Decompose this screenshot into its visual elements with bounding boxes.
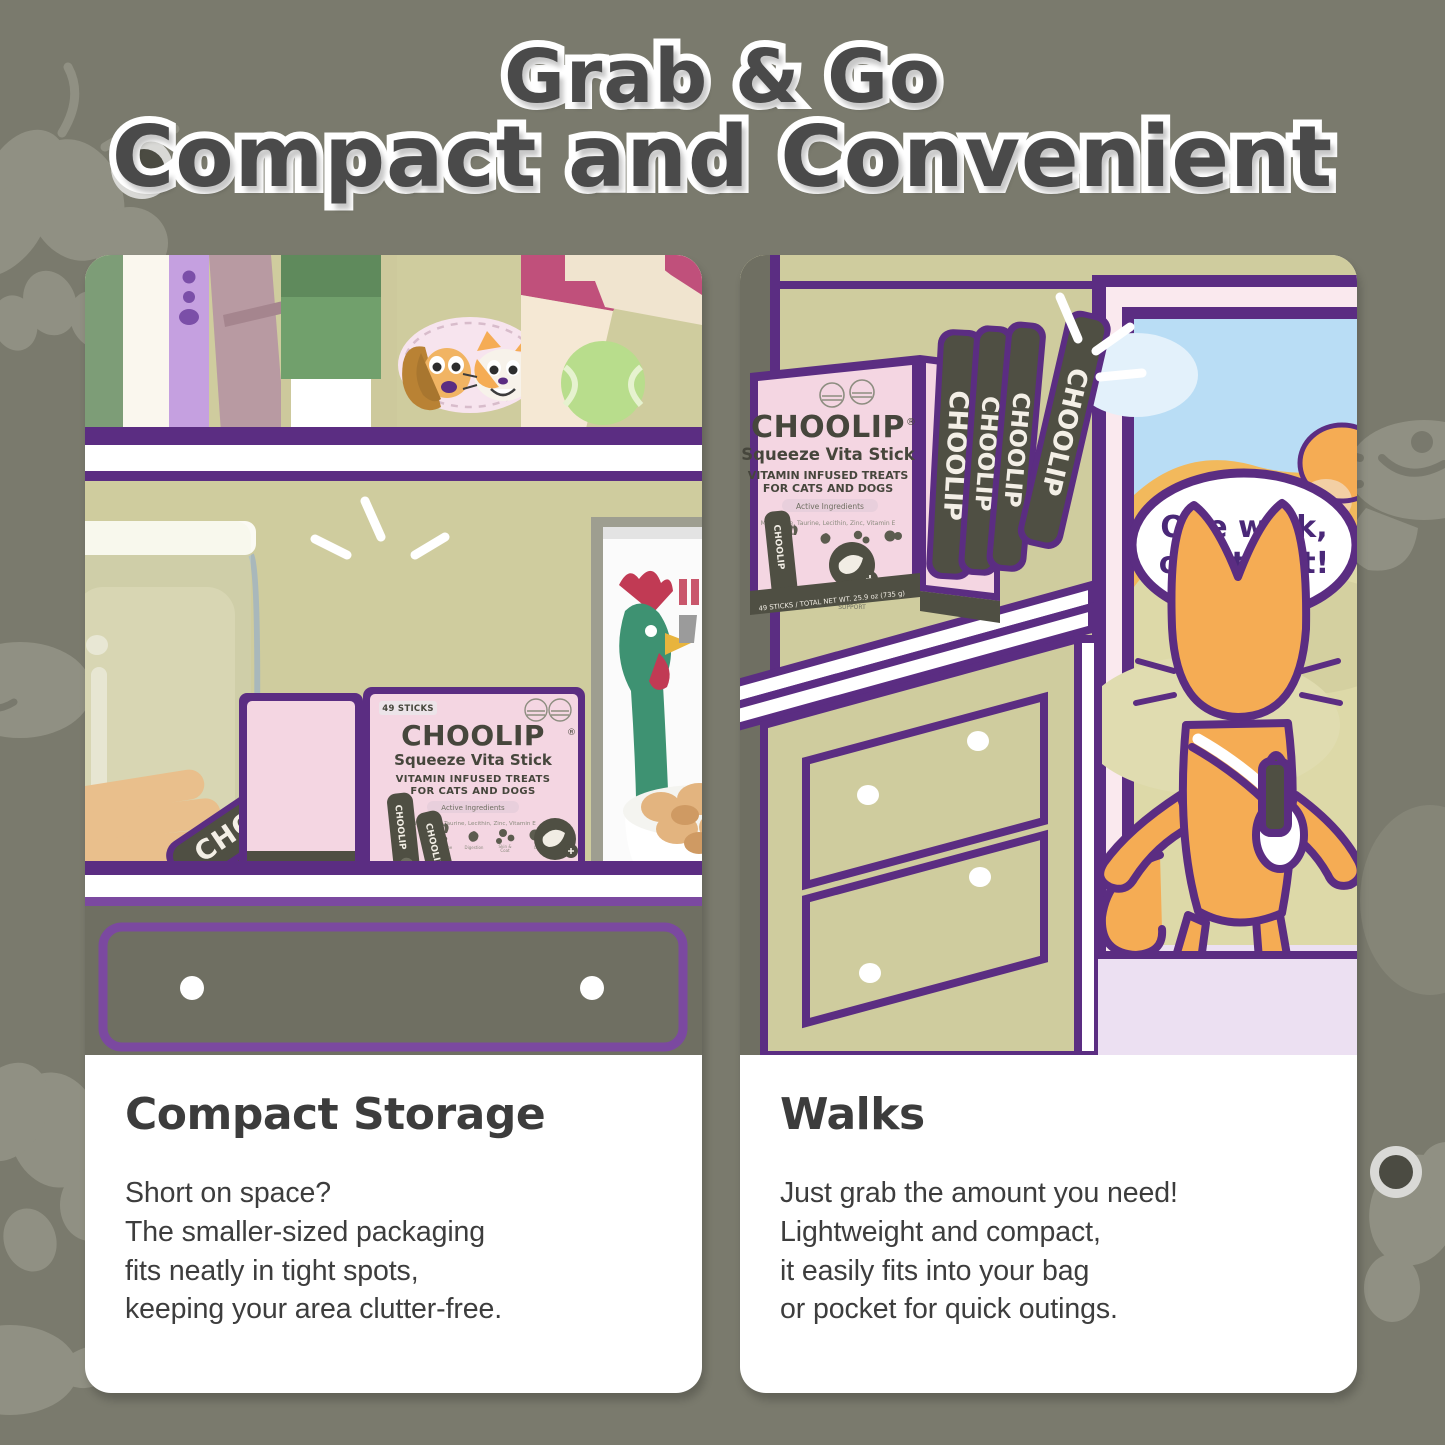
panel-body: Just grab the amount you need! Lightweig…	[780, 1174, 1317, 1329]
drawer-knob	[969, 867, 991, 887]
title-line-1: Grab & Go	[0, 40, 1445, 115]
book-purple	[169, 255, 209, 433]
panel-heading: Walks	[780, 1089, 1317, 1140]
cereal-box-with-rooster	[591, 517, 702, 903]
svg-text:Coat: Coat	[500, 848, 510, 853]
caption-compact-storage: Compact Storage Short on space? The smal…	[85, 1055, 702, 1329]
drawer-knob	[580, 976, 604, 1000]
drawer-knob	[857, 785, 879, 805]
svg-text:49 STICKS: 49 STICKS	[382, 704, 434, 714]
feature-card-compact-storage[interactable]: CHOOLIP CHOOLIP CHOOLIP	[85, 255, 702, 1393]
feature-card-walks[interactable]: One walk, one treat!	[740, 255, 1357, 1393]
caption-walks: Walks Just grab the amount you need! Lig…	[740, 1055, 1357, 1329]
drawer-knob	[859, 963, 881, 983]
svg-text:Squeeze Vita Stick: Squeeze Vita Stick	[741, 445, 915, 464]
drawer-front	[85, 897, 702, 1055]
title-line-2: Compact and Convenient	[0, 115, 1445, 202]
svg-text:FOR CATS AND DOGS: FOR CATS AND DOGS	[763, 482, 893, 495]
svg-text:Digestion: Digestion	[465, 845, 484, 850]
svg-text:®: ®	[567, 728, 576, 738]
panel-heading: Compact Storage	[125, 1089, 662, 1140]
svg-text:VITAMIN INFUSED TREATS: VITAMIN INFUSED TREATS	[748, 469, 909, 482]
svg-text:VITAMIN INFUSED TREATS: VITAMIN INFUSED TREATS	[396, 774, 551, 785]
illustration-doorway-walk: One walk, one treat!	[740, 255, 1357, 1055]
illustration-pantry-shelf: CHOOLIP CHOOLIP CHOOLIP	[85, 255, 702, 1055]
tennis-ball	[561, 341, 645, 425]
svg-text:Active Ingredients: Active Ingredients	[796, 502, 864, 511]
book-white	[123, 255, 169, 433]
shelf-bar	[85, 427, 702, 445]
tumbler	[281, 255, 397, 433]
drawer-knob	[180, 976, 204, 1000]
svg-text:Squeeze Vita Stick: Squeeze Vita Stick	[394, 751, 553, 769]
drawer-knob	[967, 731, 989, 751]
svg-text:®: ®	[906, 417, 916, 428]
svg-text:CHOOLIP: CHOOLIP	[401, 719, 545, 752]
svg-text:CHOOLIP: CHOOLIP	[751, 410, 905, 445]
svg-text:Active Ingredients: Active Ingredients	[441, 804, 505, 812]
svg-text:FOR CATS AND DOGS: FOR CATS AND DOGS	[410, 786, 535, 797]
panel-body: Short on space? The smaller-sized packag…	[125, 1174, 662, 1329]
page-header: Grab & Go Compact and Convenient	[0, 40, 1445, 202]
book-green	[85, 255, 123, 433]
